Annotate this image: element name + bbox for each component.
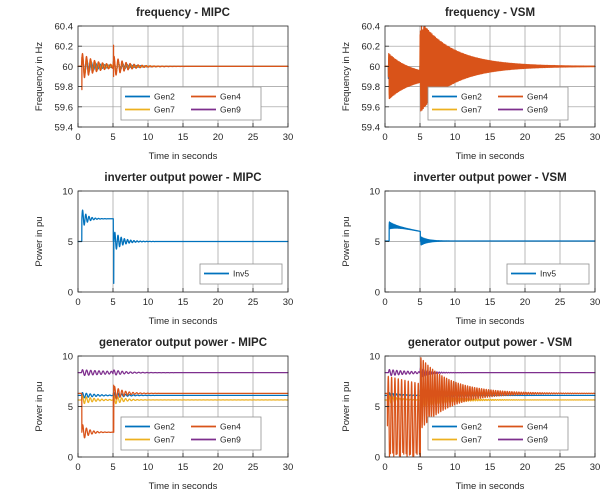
- y-tick-label: 59.6: [55, 102, 74, 113]
- chart-panel-inverter-power-vsm: inverter output power - VSM0510152025300…: [307, 165, 614, 330]
- legend-label: Gen4: [527, 422, 548, 432]
- legend-label: Inv5: [233, 269, 249, 279]
- x-tick-label: 5: [417, 132, 422, 143]
- y-tick-label: 0: [68, 288, 73, 299]
- x-tick-label: 15: [485, 297, 496, 308]
- y-tick-label: 10: [62, 352, 73, 363]
- y-axis-label: Power in pu: [341, 381, 352, 431]
- legend-label: Gen2: [154, 422, 175, 432]
- x-tick-label: 10: [450, 462, 461, 473]
- panel-title: frequency - MIPC: [136, 7, 230, 19]
- y-tick-label: 60.2: [362, 42, 381, 53]
- y-tick-label: 59.4: [362, 123, 381, 134]
- axis-ticks: 05101520253059.459.659.86060.260.4: [55, 22, 294, 144]
- chart-panel-generator-power-mipc: generator output power - MIPC05101520253…: [0, 330, 307, 495]
- x-tick-label: 20: [213, 297, 224, 308]
- legend[interactable]: Gen2Gen4Gen7Gen9: [428, 417, 568, 450]
- x-axis-label: Time in seconds: [149, 316, 218, 327]
- panel-title: generator output power - VSM: [408, 337, 572, 349]
- x-axis-label: Time in seconds: [456, 151, 525, 162]
- x-tick-label: 10: [450, 297, 461, 308]
- x-tick-label: 30: [590, 462, 601, 473]
- x-axis-label: Time in seconds: [149, 151, 218, 162]
- x-tick-label: 5: [417, 297, 422, 308]
- x-tick-label: 15: [485, 132, 496, 143]
- x-tick-label: 30: [283, 297, 294, 308]
- axis-ticks: 0510152025300510: [369, 187, 600, 309]
- y-tick-label: 10: [62, 187, 73, 198]
- x-tick-label: 25: [248, 132, 259, 143]
- x-tick-label: 20: [213, 132, 224, 143]
- x-tick-label: 10: [143, 132, 154, 143]
- legend-label: Gen4: [527, 92, 548, 102]
- chart-panel-frequency-mipc: frequency - MIPC05101520253059.459.659.8…: [0, 0, 307, 165]
- y-axis-label: Frequency in Hz: [341, 42, 352, 111]
- x-tick-label: 15: [485, 462, 496, 473]
- legend-label: Gen4: [220, 92, 241, 102]
- legend[interactable]: Gen2Gen4Gen7Gen9: [428, 87, 568, 120]
- panel-title: inverter output power - VSM: [413, 172, 566, 184]
- legend[interactable]: Inv5: [200, 264, 282, 284]
- legend-label: Gen9: [527, 105, 548, 115]
- x-axis-label: Time in seconds: [149, 481, 218, 492]
- legend-label: Gen7: [461, 105, 482, 115]
- legend-label: Inv5: [540, 269, 556, 279]
- legend-label: Gen4: [220, 422, 241, 432]
- x-tick-label: 30: [590, 132, 601, 143]
- x-axis-label: Time in seconds: [456, 481, 525, 492]
- legend-label: Gen7: [461, 435, 482, 445]
- x-tick-label: 25: [248, 462, 259, 473]
- y-tick-label: 10: [369, 187, 380, 198]
- legend-label: Gen2: [154, 92, 175, 102]
- x-tick-label: 0: [75, 462, 80, 473]
- y-tick-label: 5: [375, 237, 380, 248]
- panel-title: frequency - VSM: [445, 7, 535, 19]
- y-tick-label: 60: [62, 62, 73, 73]
- panel-title: inverter output power - MIPC: [104, 172, 261, 184]
- x-tick-label: 15: [178, 297, 189, 308]
- x-tick-label: 20: [520, 462, 531, 473]
- x-tick-label: 25: [555, 132, 566, 143]
- legend-label: Gen9: [220, 435, 241, 445]
- x-tick-label: 15: [178, 132, 189, 143]
- y-tick-label: 0: [375, 453, 380, 464]
- x-tick-label: 20: [213, 462, 224, 473]
- x-tick-label: 25: [555, 297, 566, 308]
- x-tick-label: 25: [555, 462, 566, 473]
- y-tick-label: 5: [68, 237, 73, 248]
- x-tick-label: 10: [143, 462, 154, 473]
- legend[interactable]: Gen2Gen4Gen7Gen9: [121, 87, 261, 120]
- panel-title: generator output power - MIPC: [99, 337, 267, 349]
- y-axis-label: Power in pu: [34, 216, 45, 266]
- y-tick-label: 0: [68, 453, 73, 464]
- axis-ticks: 0510152025300510: [62, 187, 293, 309]
- y-tick-label: 59.8: [362, 82, 381, 93]
- x-tick-label: 30: [590, 297, 601, 308]
- y-tick-label: 60.4: [55, 22, 74, 33]
- chart-panel-inverter-power-mipc: inverter output power - MIPC051015202530…: [0, 165, 307, 330]
- y-tick-label: 60: [369, 62, 380, 73]
- x-tick-label: 0: [382, 462, 387, 473]
- x-tick-label: 10: [450, 132, 461, 143]
- chart-panel-generator-power-vsm: generator output power - VSM051015202530…: [307, 330, 614, 495]
- x-tick-label: 5: [417, 462, 422, 473]
- y-tick-label: 60.2: [55, 42, 74, 53]
- legend-label: Gen9: [527, 435, 548, 445]
- y-axis-label: Power in pu: [341, 216, 352, 266]
- figure-canvas: frequency - MIPC05101520253059.459.659.8…: [0, 0, 614, 495]
- legend-label: Gen2: [461, 92, 482, 102]
- y-tick-label: 59.4: [55, 123, 74, 134]
- y-tick-label: 60.4: [362, 22, 381, 33]
- x-tick-label: 20: [520, 297, 531, 308]
- legend[interactable]: Inv5: [507, 264, 589, 284]
- legend-label: Gen7: [154, 435, 175, 445]
- x-tick-label: 0: [382, 297, 387, 308]
- x-tick-label: 20: [520, 132, 531, 143]
- legend[interactable]: Gen2Gen4Gen7Gen9: [121, 417, 261, 450]
- x-tick-label: 0: [75, 297, 80, 308]
- x-tick-label: 5: [110, 297, 115, 308]
- x-tick-label: 0: [382, 132, 387, 143]
- chart-panel-frequency-vsm: frequency - VSM05101520253059.459.659.86…: [307, 0, 614, 165]
- x-tick-label: 25: [248, 297, 259, 308]
- x-tick-label: 15: [178, 462, 189, 473]
- x-tick-label: 5: [110, 132, 115, 143]
- x-tick-label: 10: [143, 297, 154, 308]
- y-tick-label: 5: [375, 402, 380, 413]
- x-tick-label: 30: [283, 132, 294, 143]
- y-axis-label: Frequency in Hz: [34, 42, 45, 111]
- y-tick-label: 10: [369, 352, 380, 363]
- x-axis-label: Time in seconds: [456, 316, 525, 327]
- legend-label: Gen7: [154, 105, 175, 115]
- y-tick-label: 59.8: [55, 82, 74, 93]
- y-tick-label: 5: [68, 402, 73, 413]
- legend-label: Gen2: [461, 422, 482, 432]
- axis-ticks: 0510152025300510: [62, 352, 293, 474]
- x-tick-label: 5: [110, 462, 115, 473]
- y-tick-label: 59.6: [362, 102, 381, 113]
- y-tick-label: 0: [375, 288, 380, 299]
- x-tick-label: 0: [75, 132, 80, 143]
- x-tick-label: 30: [283, 462, 294, 473]
- y-axis-label: Power in pu: [34, 381, 45, 431]
- legend-label: Gen9: [220, 105, 241, 115]
